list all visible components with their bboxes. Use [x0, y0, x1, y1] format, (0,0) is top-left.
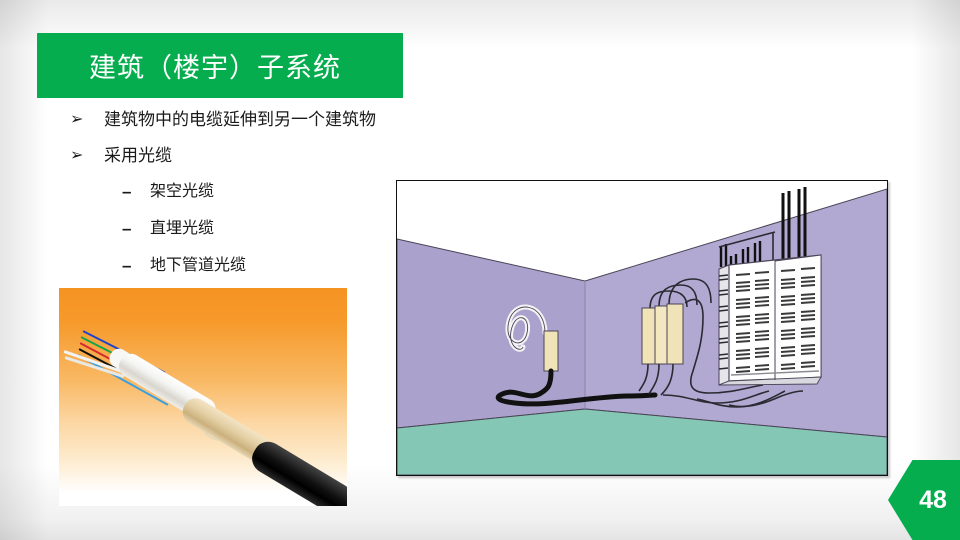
page-title: 建筑（楼宇）子系统: [37, 46, 341, 85]
room-diagram-svg: [397, 181, 887, 475]
left-splice-enclosure: [544, 331, 558, 371]
list-item: ➢ 采用光缆: [70, 144, 490, 168]
arrow-bullet-icon: ➢: [70, 144, 104, 168]
sub-list-item-label: 架空光缆: [150, 180, 214, 204]
slide-canvas: 建筑（楼宇）子系统 ➢ 建筑物中的电缆延伸到另一个建筑物 ➢ 采用光缆 – 架空…: [0, 0, 960, 540]
page-number-label: 48: [888, 460, 956, 540]
arrow-bullet-icon: ➢: [70, 108, 104, 132]
dash-bullet-icon: –: [122, 254, 150, 278]
dash-bullet-icon: –: [122, 217, 150, 241]
building-entrance-room-illustration: [396, 180, 888, 476]
title-banner: 建筑（楼宇）子系统: [37, 33, 403, 98]
list-item-label: 建筑物中的电缆延伸到另一个建筑物: [104, 108, 376, 132]
cable-outer-jacket: [247, 436, 347, 506]
distribution-patch-panel: [719, 255, 821, 385]
sub-list-item-label: 地下管道光缆: [150, 254, 246, 278]
fiber-optic-cable-photo: [59, 288, 347, 506]
list-item: ➢ 建筑物中的电缆延伸到另一个建筑物: [70, 108, 490, 132]
list-item-label: 采用光缆: [104, 144, 172, 168]
page-number-badge: 48: [888, 460, 960, 540]
dash-bullet-icon: –: [122, 180, 150, 204]
sub-list-item-label: 直埋光缆: [150, 217, 214, 241]
splice-enclosure: [667, 304, 683, 364]
